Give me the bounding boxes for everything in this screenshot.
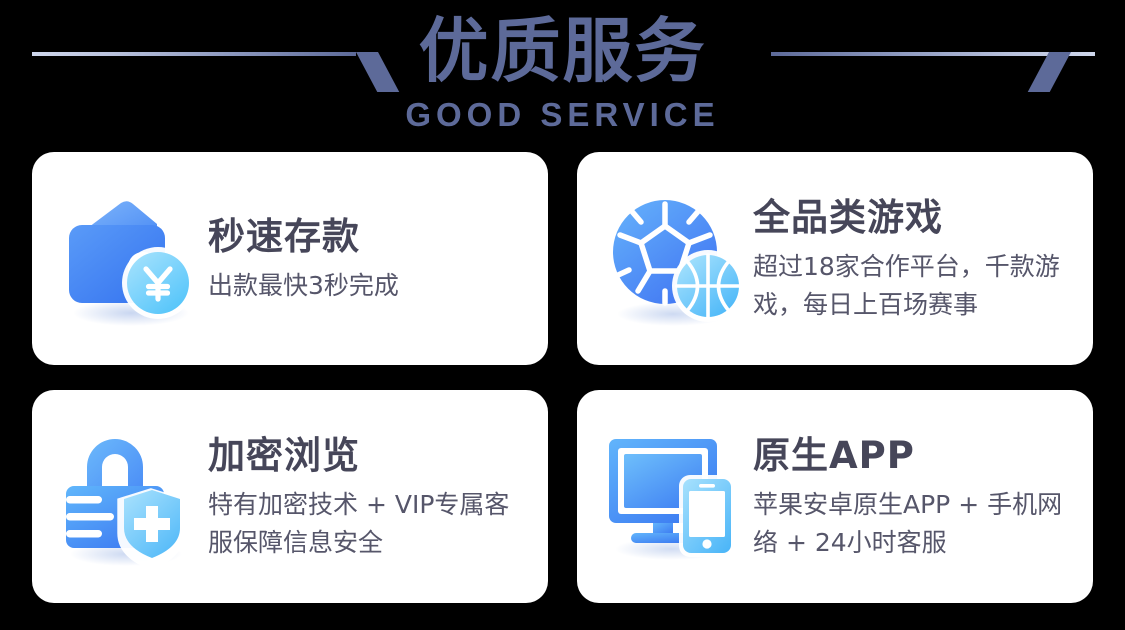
card-subtitle: 特有加密技术 + VIP专属客服保障信息安全 <box>208 486 524 562</box>
soccer-basketball-icon <box>605 184 745 334</box>
card-title: 全品类游戏 <box>753 194 1069 242</box>
feature-card-deposit[interactable]: 秒速存款 出款最快3秒完成 <box>32 152 548 365</box>
card-subtitle: 出款最快3秒完成 <box>208 267 524 305</box>
card-text-block: 全品类游戏 超过18家合作平台，千款游戏，每日上百场赛事 <box>745 194 1069 324</box>
wallet-yen-icon <box>60 184 200 334</box>
banner-header: 优质服务 GOOD SERVICE <box>0 0 1125 148</box>
card-subtitle: 超过18家合作平台，千款游戏，每日上百场赛事 <box>753 248 1069 324</box>
card-text-block: 秒速存款 出款最快3秒完成 <box>200 213 524 305</box>
promo-banner: 优质服务 GOOD SERVICE <box>0 0 1125 630</box>
card-title: 原生APP <box>753 432 1069 480</box>
monitor-phone-icon <box>605 422 745 572</box>
lock-shield-icon <box>60 422 200 572</box>
card-text-block: 加密浏览 特有加密技术 + VIP专属客服保障信息安全 <box>200 432 524 562</box>
feature-card-native-app[interactable]: 原生APP 苹果安卓原生APP + 手机网络 + 24小时客服 <box>577 390 1093 603</box>
card-title: 加密浏览 <box>208 432 524 480</box>
feature-card-games[interactable]: 全品类游戏 超过18家合作平台，千款游戏，每日上百场赛事 <box>577 152 1093 365</box>
card-title: 秒速存款 <box>208 213 524 261</box>
card-subtitle: 苹果安卓原生APP + 手机网络 + 24小时客服 <box>753 486 1069 562</box>
feature-card-grid: 秒速存款 出款最快3秒完成 <box>32 152 1093 603</box>
page-title: 优质服务 <box>0 8 1125 94</box>
card-text-block: 原生APP 苹果安卓原生APP + 手机网络 + 24小时客服 <box>745 432 1069 562</box>
feature-card-encryption[interactable]: 加密浏览 特有加密技术 + VIP专属客服保障信息安全 <box>32 390 548 603</box>
page-subtitle: GOOD SERVICE <box>0 97 1125 133</box>
